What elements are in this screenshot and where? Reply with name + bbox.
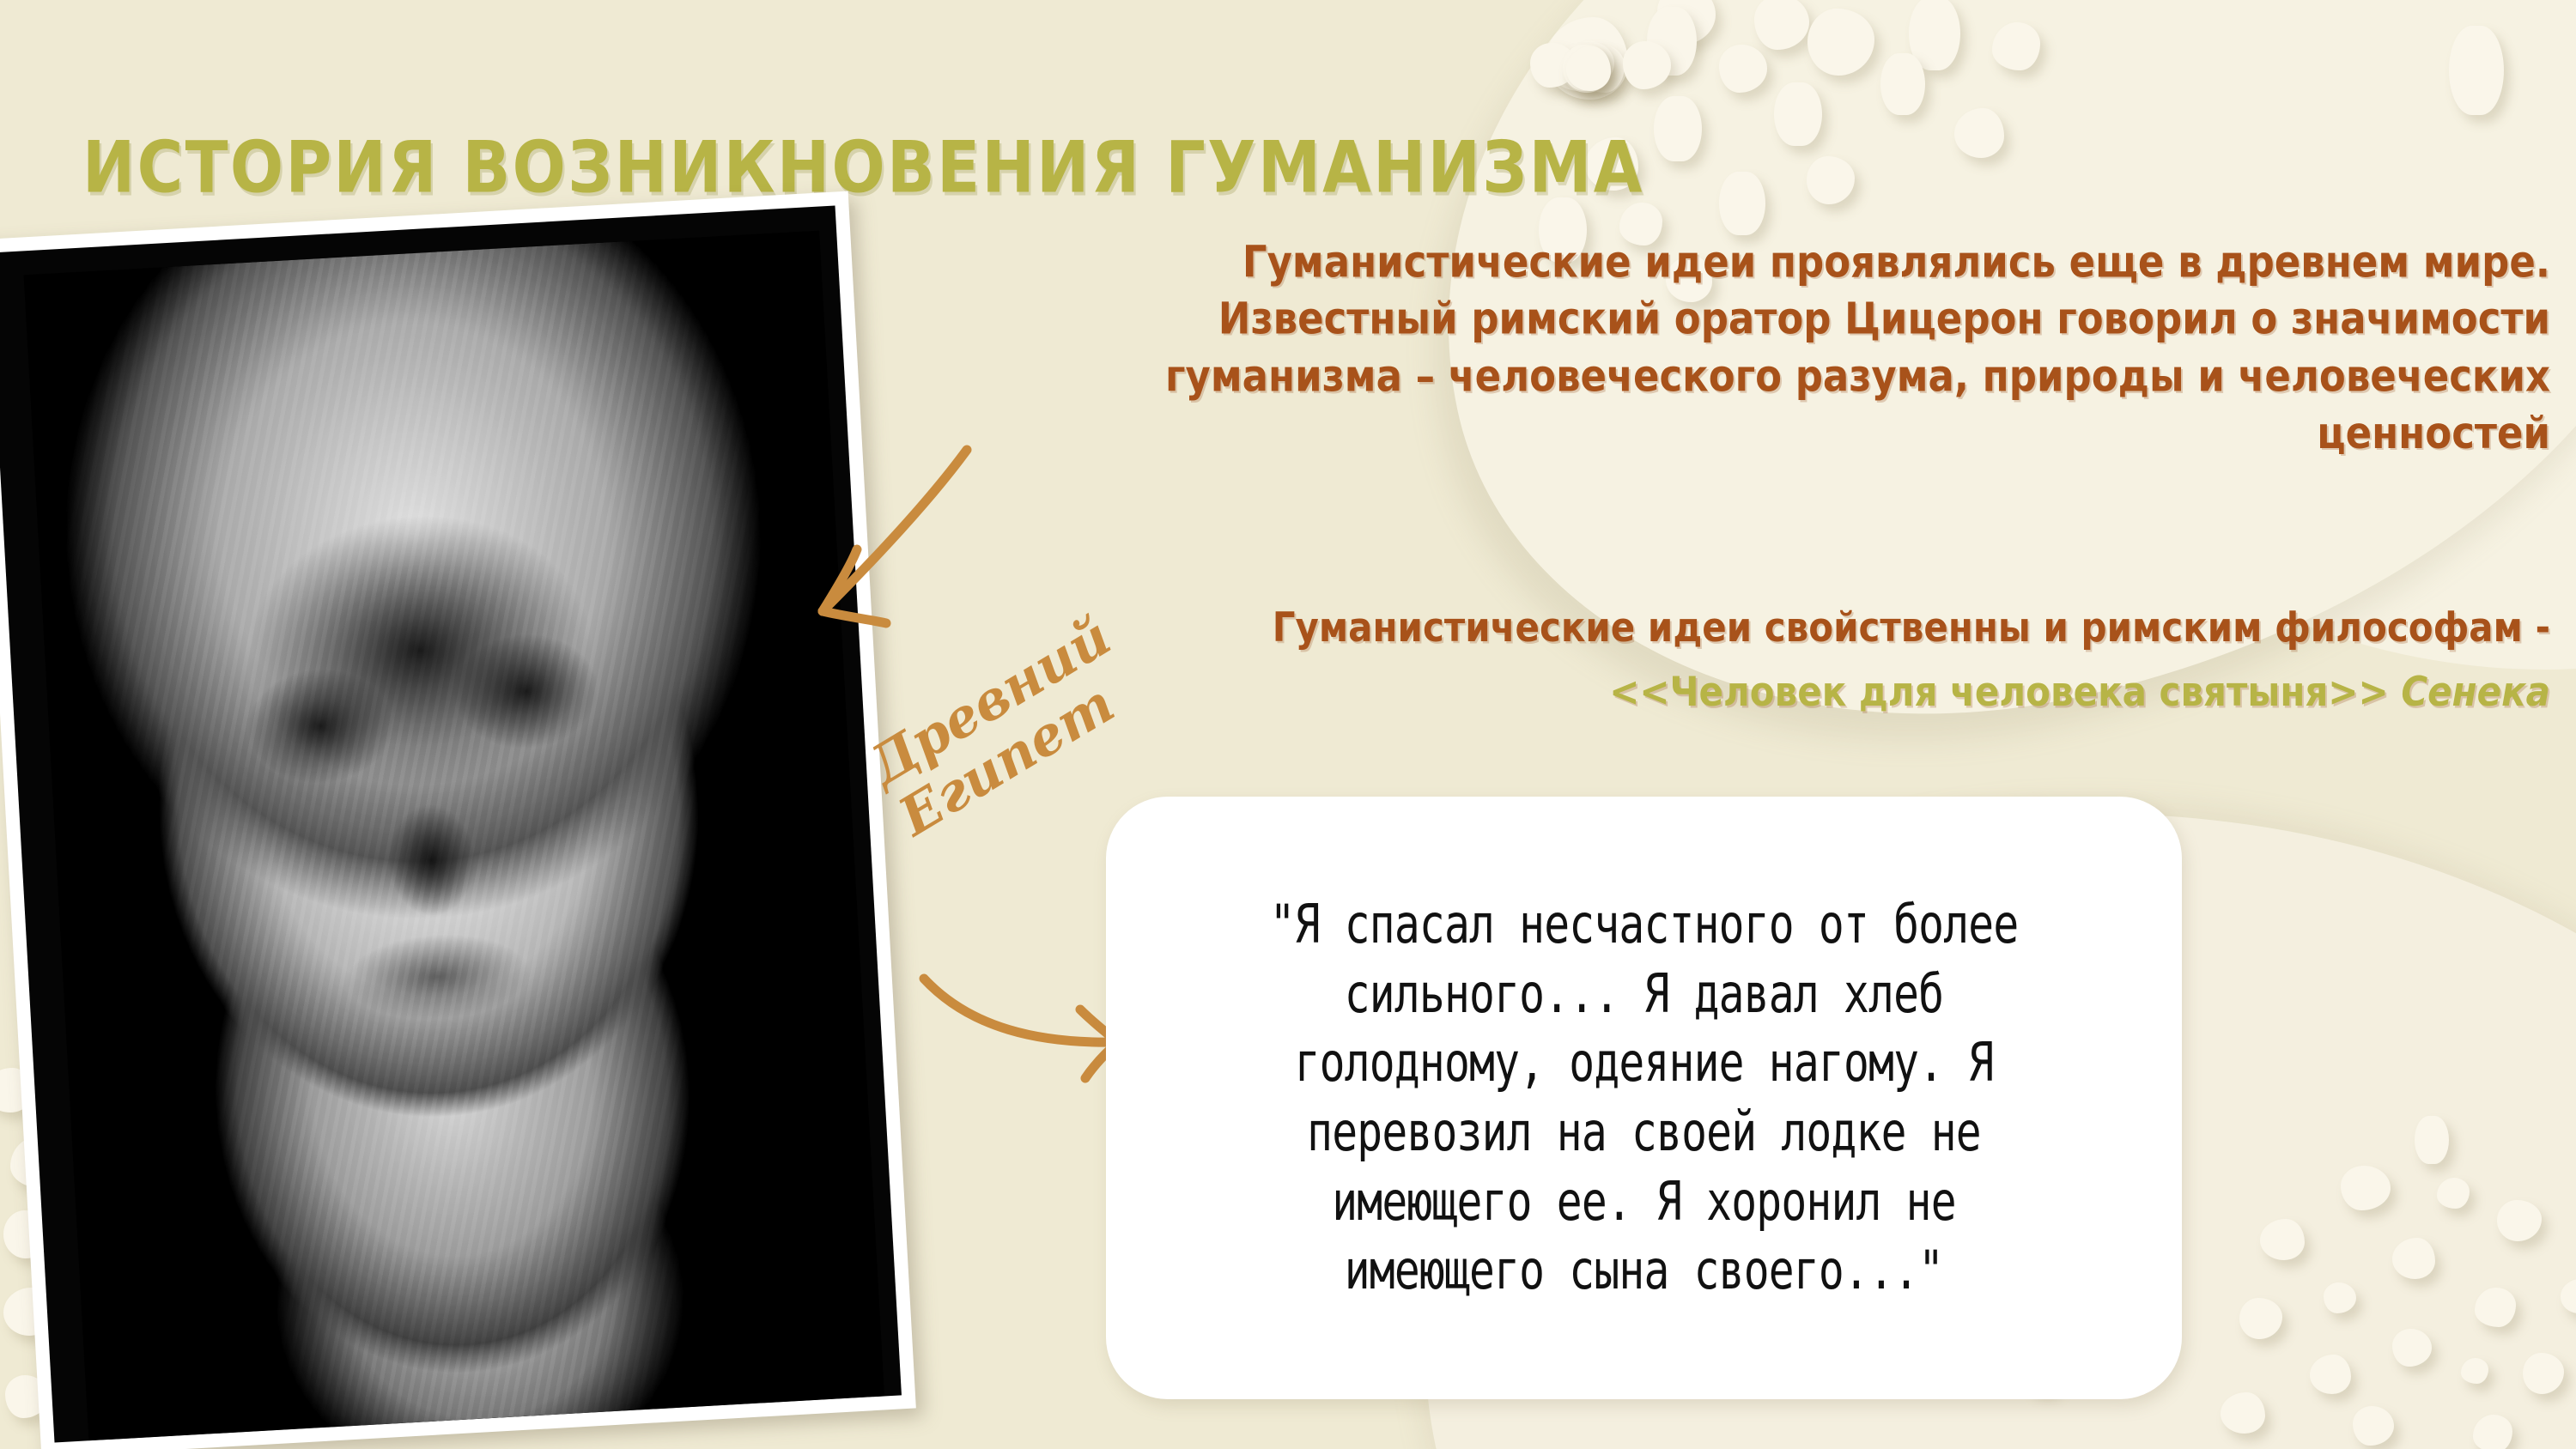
decor-blob bbox=[2221, 1392, 2265, 1434]
decor-blob bbox=[2239, 1298, 2282, 1339]
decor-blob bbox=[1954, 108, 2004, 158]
decor-blob bbox=[1566, 46, 1611, 91]
decor-blob bbox=[1774, 82, 1822, 146]
decor-blob bbox=[2415, 1116, 2449, 1164]
decor-blob bbox=[1647, 7, 1697, 76]
decor-blob bbox=[1568, 41, 1614, 86]
decor-blob bbox=[2353, 1406, 2394, 1446]
decor-blob bbox=[2324, 1282, 2356, 1313]
decor-blob bbox=[2310, 1355, 2351, 1394]
decor-blob bbox=[2392, 1329, 2432, 1367]
intro-line-1: Гуманистические идеи проявлялись еще в д… bbox=[635, 233, 2550, 291]
decor-blob bbox=[1909, 0, 1960, 70]
slide-canvas: ИСТОРИЯ ВОЗНИКНОВЕНИЯ ГУМАНИЗМА Гуманист… bbox=[0, 0, 2576, 1449]
decor-blob bbox=[2473, 1415, 2512, 1449]
decor-blob bbox=[1578, 45, 1625, 93]
decor-blob bbox=[1657, 0, 1716, 45]
decor-blob bbox=[2461, 1358, 2488, 1384]
page-title: ИСТОРИЯ ВОЗНИКНОВЕНИЯ ГУМАНИЗМА bbox=[82, 125, 1644, 209]
decor-blob bbox=[2437, 1178, 2470, 1209]
intro-line-4: ценностей bbox=[635, 405, 2550, 463]
decor-blob bbox=[1623, 41, 1671, 89]
decor-blob bbox=[2561, 1279, 2576, 1313]
decor-blob bbox=[1561, 45, 1609, 93]
decor-blob bbox=[1654, 96, 1702, 161]
decor-blob bbox=[2341, 1166, 2391, 1210]
intro-line-3: гуманизма – человеческого разума, природ… bbox=[635, 348, 2550, 405]
decor-blob bbox=[2392, 1238, 2435, 1279]
decor-blob bbox=[2497, 1200, 2542, 1241]
decor-blob bbox=[1719, 45, 1767, 93]
decor-blob bbox=[1754, 0, 1809, 50]
decor-blob bbox=[1880, 53, 1925, 115]
seneca-author: Сенека bbox=[2401, 669, 2550, 716]
decor-blob bbox=[2523, 1353, 2564, 1394]
decor-blob bbox=[2260, 1219, 2305, 1260]
intro-line-2: Известный римский оратор Цицерон говорил… bbox=[635, 291, 2550, 349]
decor-blob bbox=[1992, 22, 2040, 70]
egypt-quote-card: "Я спасал несчастного от более сильного.… bbox=[1106, 797, 2182, 1399]
decor-blob bbox=[2449, 26, 2504, 115]
decor-blob bbox=[1807, 9, 1874, 76]
seneca-quote-text: <<Человек для человека святыня>> bbox=[1609, 669, 2389, 716]
decor-blob bbox=[1807, 156, 1855, 204]
decor-blob bbox=[1546, 17, 1628, 100]
decor-blob bbox=[1719, 172, 1765, 235]
decor-blob bbox=[1563, 45, 1609, 91]
decor-blob bbox=[1552, 45, 1599, 91]
decor-blob bbox=[1530, 43, 1577, 88]
intro-paragraph: Гуманистические идеи проявлялись еще в д… bbox=[635, 233, 2550, 462]
decor-blob bbox=[2475, 1288, 2516, 1327]
egypt-quote-text: "Я спасал несчастного от более сильного.… bbox=[1251, 890, 2038, 1306]
